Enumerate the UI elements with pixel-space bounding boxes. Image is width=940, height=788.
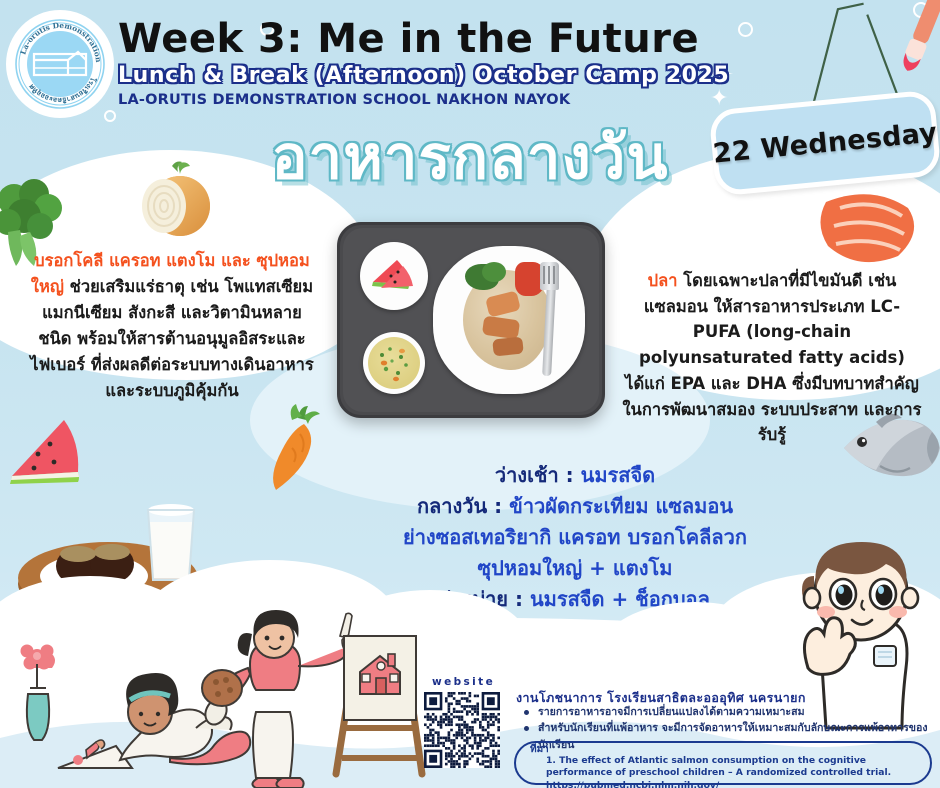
poster-title: Week 3: Me in the Future xyxy=(118,18,738,60)
watermelon-slice-icon xyxy=(4,414,88,486)
menu-row: ว่างเช้า : นมรสจืด xyxy=(330,460,820,491)
footer-note: รายการอาหารอาจมีการเปลี่ยนแปลงได้ตามความ… xyxy=(520,704,932,720)
soup-garnish xyxy=(368,337,420,389)
broccoli-on-plate-2 xyxy=(482,262,506,282)
poster-subtitle: Lunch & Break (Afternoon) October Camp 2… xyxy=(118,63,738,88)
website-label: website xyxy=(432,676,495,688)
nutrition-note-right: ปลา โดยเฉพาะปลาที่มีไขมันดี เช่น แซลมอน … xyxy=(622,268,922,448)
menu-row: ซุปหอมใหญ่ + แตงโม xyxy=(330,553,820,584)
salmon-piece-3 xyxy=(492,336,524,356)
nutrition-note-left: บรอกโคลี แครอท แตงโม และ ซุปหอมใหญ่ ช่วย… xyxy=(26,248,318,404)
fork-tine-1 xyxy=(543,266,545,284)
poster-canvas: ✦ ✦ La-orutis Demonstr xyxy=(0,0,940,788)
nutrition-left-body: ช่วยเสริมแร่ธาตุ เช่น โพแทสเซียม แมกนีเซ… xyxy=(30,277,313,400)
watermelon-slices-on-plate xyxy=(367,252,421,296)
source-citation: 1. The effect of Atlantic salmon consump… xyxy=(546,755,924,788)
menu-value: ย่างซอสเทอริยากิ แครอท บรอกโคลีลวก xyxy=(403,525,747,549)
easel-icon xyxy=(336,636,422,774)
menu-label: ว่างเช้า : xyxy=(495,463,574,487)
menu-value: นมรสจืด xyxy=(581,463,656,487)
website-qr-code[interactable] xyxy=(424,692,500,768)
decor-ring-5 xyxy=(660,196,673,209)
menu-label: กลางวัน : xyxy=(417,494,502,518)
menu-value: ซุปหอมใหญ่ + แตงโม xyxy=(478,556,673,580)
flower-vase-icon xyxy=(21,645,56,741)
school-name: LA-ORUTIS DEMONSTRATION SCHOOL NAKHON NA… xyxy=(118,92,738,108)
menu-value: ข้าวผัดกระเทียม แซลมอน xyxy=(509,494,733,518)
onion-icon xyxy=(128,160,220,242)
menu-row: ย่างซอสเทอริยากิ แครอท บรอกโคลีลวก xyxy=(330,522,820,553)
carrot-icon xyxy=(252,404,324,496)
cloud-puff-5 xyxy=(600,602,790,702)
kids-painting-illustration xyxy=(10,608,430,788)
nutrition-right-highlight: ปลา xyxy=(648,271,678,290)
lunch-tray xyxy=(337,222,605,418)
paintbrush-icon xyxy=(880,0,940,104)
fork-tine-2 xyxy=(548,266,550,284)
salmon-slice-icon xyxy=(816,186,926,272)
nutrition-right-body: โดยเฉพาะปลาที่มีไขมันดี เช่น แซลมอน ให้ส… xyxy=(623,271,922,444)
fork-tine-3 xyxy=(553,266,555,284)
menu-row: กลางวัน : ข้าวผัดกระเทียม แซลมอน xyxy=(330,491,820,522)
school-logo: La-orutis Demonstration School โรงเรียนส… xyxy=(8,12,112,116)
title-block: Week 3: Me in the Future Lunch & Break (… xyxy=(118,18,738,108)
